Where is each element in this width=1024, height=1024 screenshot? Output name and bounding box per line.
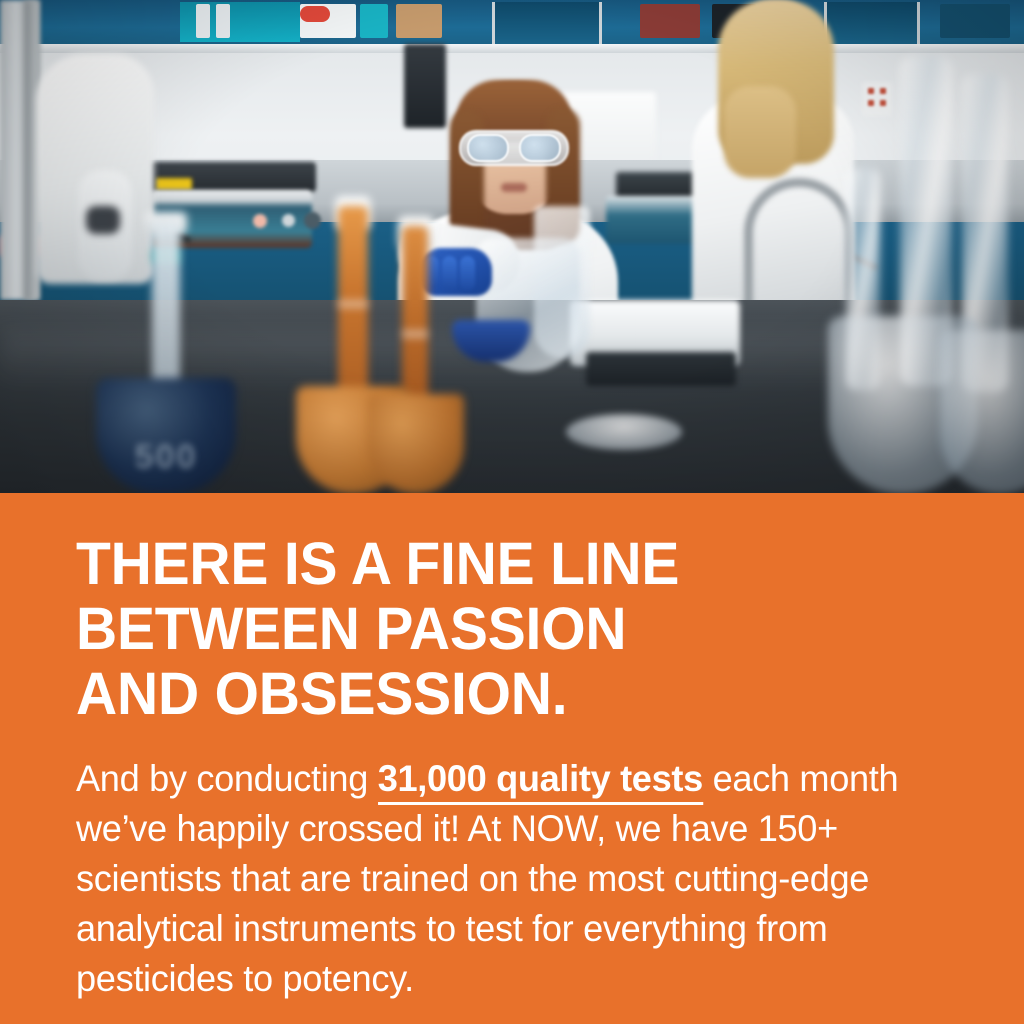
body-copy-before: And by conducting [76, 757, 378, 799]
advertisement-card: 500 THERE IS A FINE LINE BETWEEN PASSION… [0, 0, 1024, 1024]
body-copy: And by conducting 31,000 quality tests e… [76, 754, 917, 1003]
orange-text-panel: THERE IS A FINE LINE BETWEEN PASSION AND… [0, 493, 1024, 1024]
photo-vignette [0, 0, 1024, 494]
laboratory-photo: 500 [0, 0, 1024, 494]
quality-tests-emphasis: 31,000 quality tests [378, 757, 703, 805]
headline: THERE IS A FINE LINE BETWEEN PASSION AND… [76, 531, 904, 726]
